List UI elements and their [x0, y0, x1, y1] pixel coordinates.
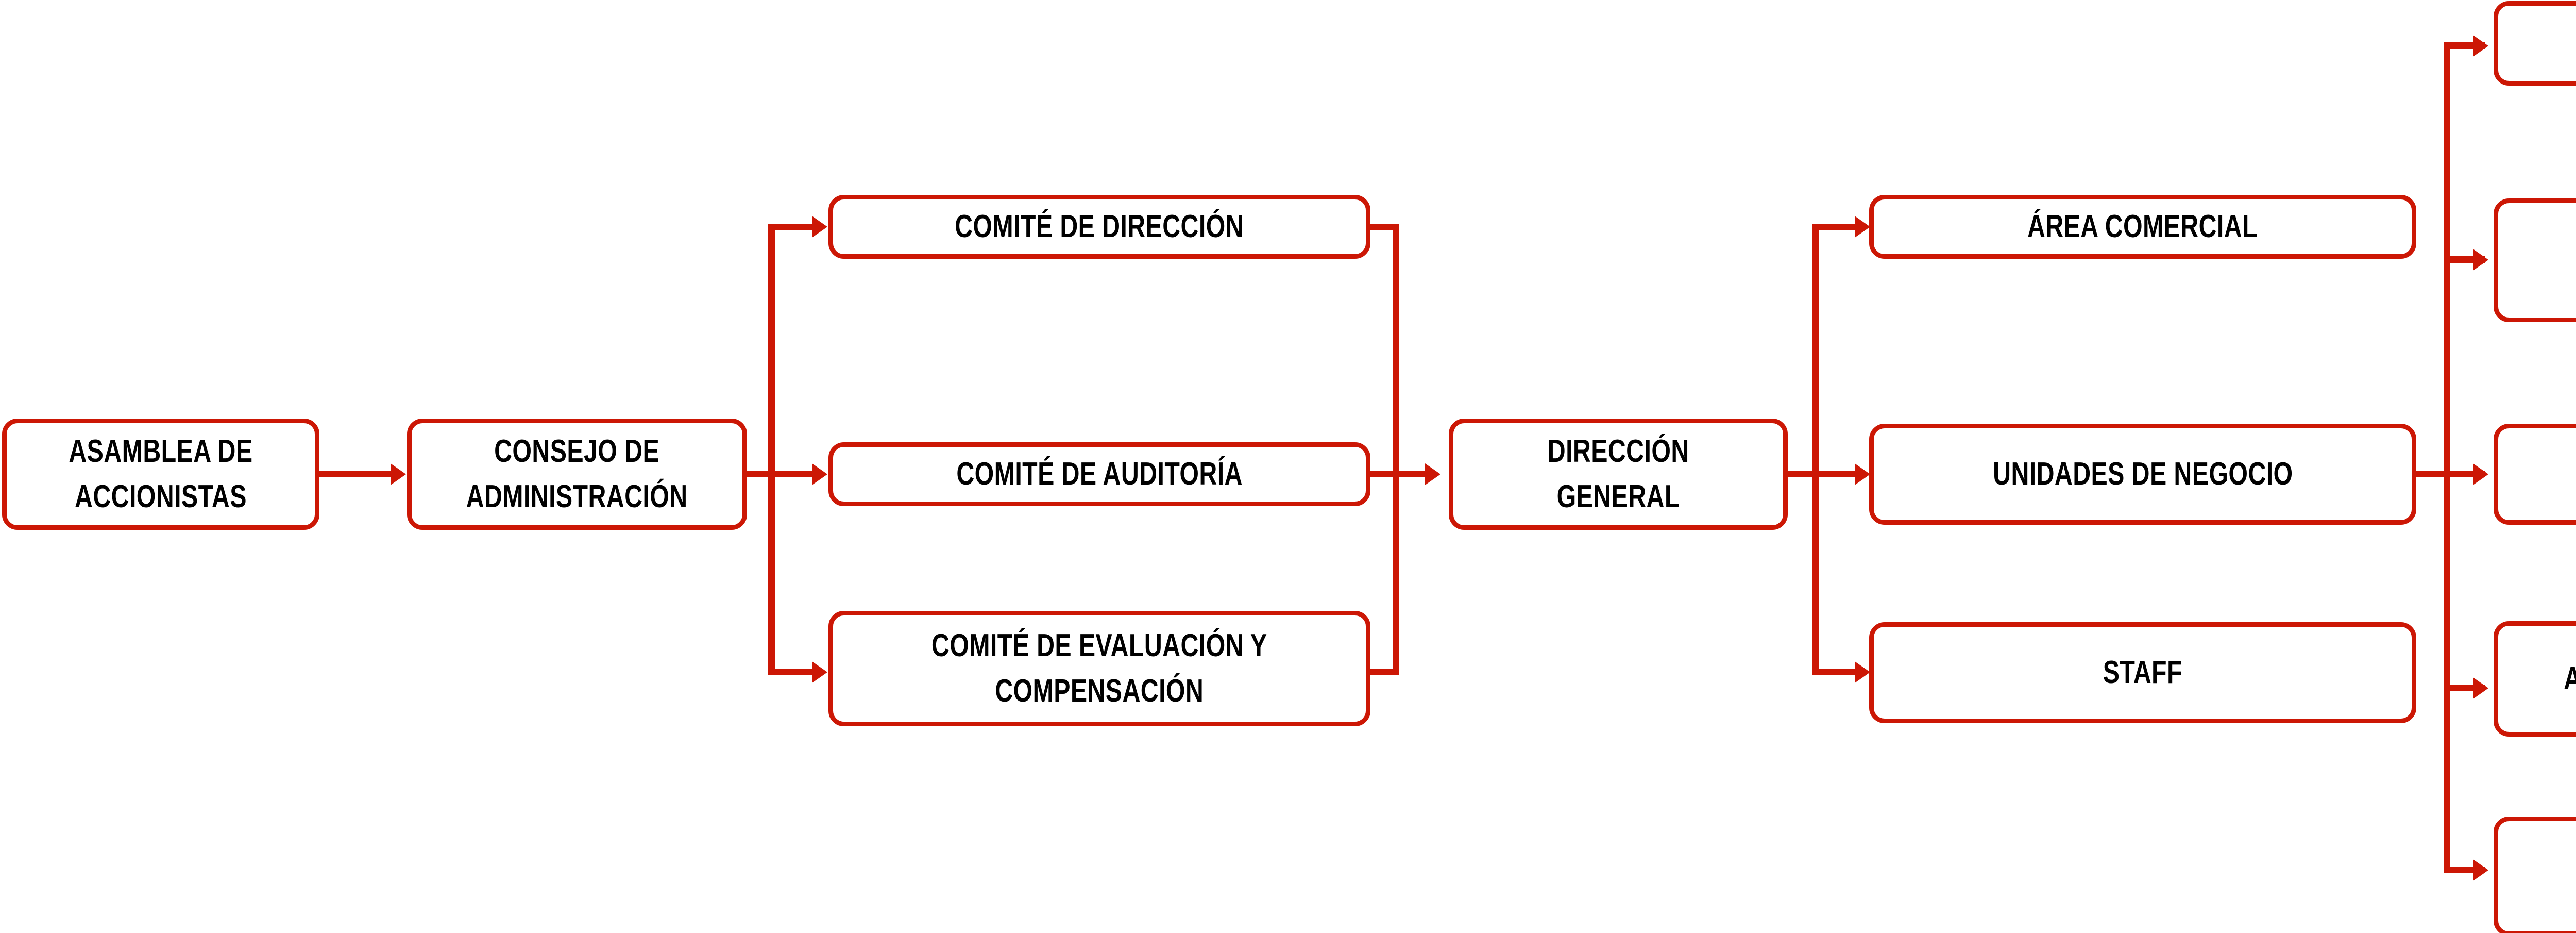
arrowhead-logistica-integral	[2473, 859, 2488, 881]
node-agencias-aduanales[interactable]: AGENCIAS ADUANALES	[2494, 1, 2576, 86]
connector-nivel5-trunk	[1812, 224, 1819, 675]
node-label: ÁREA COMERCIAL	[2024, 204, 2261, 249]
connector-trunk-to-staff	[1812, 669, 1858, 675]
node-comite-de-auditoria[interactable]: COMITÉ DE AUDITORÍA	[828, 442, 1370, 506]
node-fletes-internacionales[interactable]: FLETES INTERNACIONALES	[2494, 198, 2576, 322]
connector-nivel6-trunk	[2444, 42, 2450, 873]
node-consejo-de-administracion[interactable]: CONSEJO DE ADMINISTRACIÓN	[407, 419, 747, 530]
connector-collector-to-direccion-general	[1393, 471, 1428, 477]
node-label: UNIDADES DE NEGOCIO	[1990, 452, 2296, 497]
arrowhead-almacenaje-distribucion	[2473, 677, 2488, 699]
node-asamblea-de-accionistas[interactable]: ASAMBLEA DE ACCIONISTAS	[2, 419, 319, 530]
arrowhead-staff	[1855, 661, 1870, 683]
org-chart-canvas: ASAMBLEA DE ACCIONISTAS CONSEJO DE ADMIN…	[0, 0, 2576, 933]
node-label: CONSEJO DE ADMINISTRACIÓN	[463, 429, 691, 520]
node-label: ALMACENAJE Y DISTRIBUCIÓN	[2561, 656, 2576, 702]
arrowhead-unidades-negocio	[1855, 463, 1870, 485]
arrowhead-agencias-aduanales	[2473, 35, 2488, 57]
node-logistica-integral[interactable]: LOGÍSTICA INTEGRAL	[2494, 817, 2576, 933]
node-comite-de-evaluacion-y-compensacion[interactable]: COMITÉ DE EVALUACIÓN Y COMPENSACIÓN	[828, 611, 1370, 726]
connector-trunk-to-comite-evaluacion	[768, 669, 815, 675]
connector-trunk-to-comite-auditoria	[768, 471, 815, 477]
connector-trunk-to-comite-direccion	[768, 224, 815, 230]
node-staff[interactable]: STAFF	[1869, 622, 2416, 723]
node-label: DIRECCIÓN GENERAL	[1544, 429, 1692, 520]
connector-comites-trunk	[768, 224, 775, 675]
connector-comites-collector-trunk	[1393, 224, 1399, 675]
node-label: COMITÉ DE EVALUACIÓN Y COMPENSACIÓN	[928, 623, 1270, 714]
node-label: ASAMBLEA DE ACCIONISTAS	[65, 429, 256, 520]
node-area-comercial[interactable]: ÁREA COMERCIAL	[1869, 195, 2416, 259]
node-direccion-general[interactable]: DIRECCIÓN GENERAL	[1449, 419, 1788, 530]
arrowhead-comite-evaluacion	[812, 661, 827, 683]
node-label: STAFF	[2100, 650, 2186, 695]
connector-trunk-to-unidades-negocio	[1812, 471, 1858, 477]
arrowhead-fletes-internacionales	[2473, 249, 2488, 271]
arrowhead-direccion-general	[1425, 463, 1440, 485]
arrowhead-transporte-terrestre	[2473, 463, 2488, 485]
arrowhead-area-comercial	[1855, 216, 1870, 238]
node-label: COMITÉ DE AUDITORÍA	[953, 452, 1246, 497]
node-almacenaje-y-distribucion[interactable]: ALMACENAJE Y DISTRIBUCIÓN	[2494, 621, 2576, 737]
arrowhead-consejo	[391, 463, 406, 485]
node-unidades-de-negocio[interactable]: UNIDADES DE NEGOCIO	[1869, 424, 2416, 525]
connector-trunk-to-area-comercial	[1812, 224, 1858, 230]
node-label: COMITÉ DE DIRECCIÓN	[952, 204, 1247, 249]
connector-asamblea-to-consejo	[319, 471, 392, 477]
arrowhead-comite-auditoria	[812, 463, 827, 485]
node-comite-de-direccion[interactable]: COMITÉ DE DIRECCIÓN	[828, 195, 1370, 259]
arrowhead-comite-direccion	[812, 216, 827, 238]
node-transporte-terrestre[interactable]: TRANSPORTE TERRESTRE	[2494, 424, 2576, 525]
